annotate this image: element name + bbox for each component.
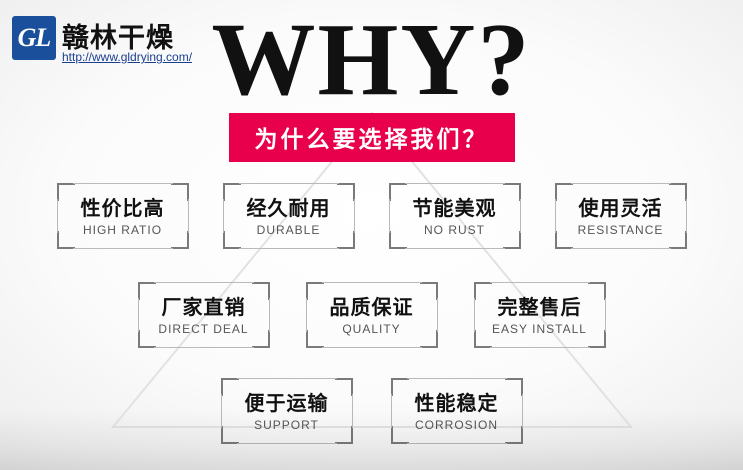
- corner-top-left: [223, 183, 241, 201]
- feature-title-en: EASY INSTALL: [492, 322, 587, 336]
- edge-right: [520, 199, 521, 233]
- edge-top: [571, 183, 671, 184]
- feature-card: 厂家直销 DIRECT DEAL: [138, 282, 270, 348]
- edge-left: [138, 298, 139, 332]
- corner-top-right: [252, 282, 270, 300]
- corner-top-right: [503, 183, 521, 201]
- feature-card: 经久耐用 DURABLE: [223, 183, 355, 249]
- feature-title-en: HIGH RATIO: [83, 223, 162, 237]
- edge-right: [188, 199, 189, 233]
- feature-card: 完整售后 EASY INSTALL: [474, 282, 606, 348]
- corner-top-right: [505, 378, 523, 396]
- feature-title-cn: 厂家直销: [162, 295, 246, 319]
- edge-top: [407, 378, 507, 379]
- edge-top: [73, 183, 173, 184]
- edge-bottom: [571, 248, 671, 249]
- corner-top-left: [474, 282, 492, 300]
- corner-top-left: [391, 378, 409, 396]
- edge-bottom: [154, 347, 254, 348]
- edge-top: [490, 282, 590, 283]
- edge-top: [405, 183, 505, 184]
- edge-left: [306, 298, 307, 332]
- corner-top-left: [138, 282, 156, 300]
- corner-top-right: [420, 282, 438, 300]
- edge-left: [223, 199, 224, 233]
- edge-left: [474, 298, 475, 332]
- corner-top-left: [57, 183, 75, 201]
- edge-bottom: [490, 347, 590, 348]
- feature-title-cn: 使用灵活: [579, 196, 663, 220]
- edge-top: [154, 282, 254, 283]
- feature-title-cn: 完整售后: [498, 295, 582, 319]
- corner-top-right: [337, 183, 355, 201]
- edge-bottom: [322, 347, 422, 348]
- corner-bottom-left: [389, 231, 407, 249]
- corner-bottom-left: [555, 231, 573, 249]
- corner-top-left: [306, 282, 324, 300]
- feature-title-en: QUALITY: [342, 322, 400, 336]
- feature-title-en: NO RUST: [424, 223, 485, 237]
- edge-right: [437, 298, 438, 332]
- feature-card: 节能美观 NO RUST: [389, 183, 521, 249]
- corner-top-left: [555, 183, 573, 201]
- edge-top: [239, 183, 339, 184]
- corner-top-right: [669, 183, 687, 201]
- edge-right: [354, 199, 355, 233]
- edge-left: [555, 199, 556, 233]
- edge-left: [57, 199, 58, 233]
- headline-why: WHY?: [0, 8, 743, 112]
- corner-bottom-left: [306, 330, 324, 348]
- edge-bottom: [239, 248, 339, 249]
- corner-bottom-left: [138, 330, 156, 348]
- corner-bottom-right: [669, 231, 687, 249]
- feature-title-cn: 品质保证: [330, 295, 414, 319]
- edge-top: [237, 378, 337, 379]
- corner-top-left: [221, 378, 239, 396]
- feature-title-en: RESISTANCE: [578, 223, 664, 237]
- edge-bottom: [73, 248, 173, 249]
- edge-right: [686, 199, 687, 233]
- corner-top-right: [335, 378, 353, 396]
- edge-top: [322, 282, 422, 283]
- headline-banner: 为什么要选择我们？: [229, 113, 515, 162]
- feature-card: 性价比高 HIGH RATIO: [57, 183, 189, 249]
- edge-bottom: [405, 248, 505, 249]
- feature-title-cn: 经久耐用: [247, 196, 331, 220]
- corner-bottom-right: [337, 231, 355, 249]
- corner-top-left: [389, 183, 407, 201]
- feature-title-cn: 性价比高: [81, 196, 165, 220]
- feature-card: 使用灵活 RESISTANCE: [555, 183, 687, 249]
- corner-bottom-left: [474, 330, 492, 348]
- floor-shadow: [0, 410, 743, 470]
- corner-bottom-right: [420, 330, 438, 348]
- corner-bottom-right: [171, 231, 189, 249]
- feature-title-en: DIRECT DEAL: [158, 322, 248, 336]
- promo-banner: GL 赣林干燥 http://www.gldrying.com/ WHY? 为什…: [0, 0, 743, 470]
- edge-left: [389, 199, 390, 233]
- corner-bottom-right: [252, 330, 270, 348]
- feature-title-cn: 节能美观: [413, 196, 497, 220]
- feature-title-en: DURABLE: [257, 223, 321, 237]
- feature-row-1: 性价比高 HIGH RATIO 经久耐用 DURABLE 节能美观 NO R: [0, 183, 743, 249]
- corner-bottom-left: [57, 231, 75, 249]
- corner-bottom-left: [223, 231, 241, 249]
- corner-top-right: [588, 282, 606, 300]
- corner-bottom-right: [588, 330, 606, 348]
- edge-right: [269, 298, 270, 332]
- feature-card: 品质保证 QUALITY: [306, 282, 438, 348]
- feature-row-2: 厂家直销 DIRECT DEAL 品质保证 QUALITY 完整售后 EAS: [0, 282, 743, 348]
- corner-bottom-right: [503, 231, 521, 249]
- edge-right: [605, 298, 606, 332]
- corner-top-right: [171, 183, 189, 201]
